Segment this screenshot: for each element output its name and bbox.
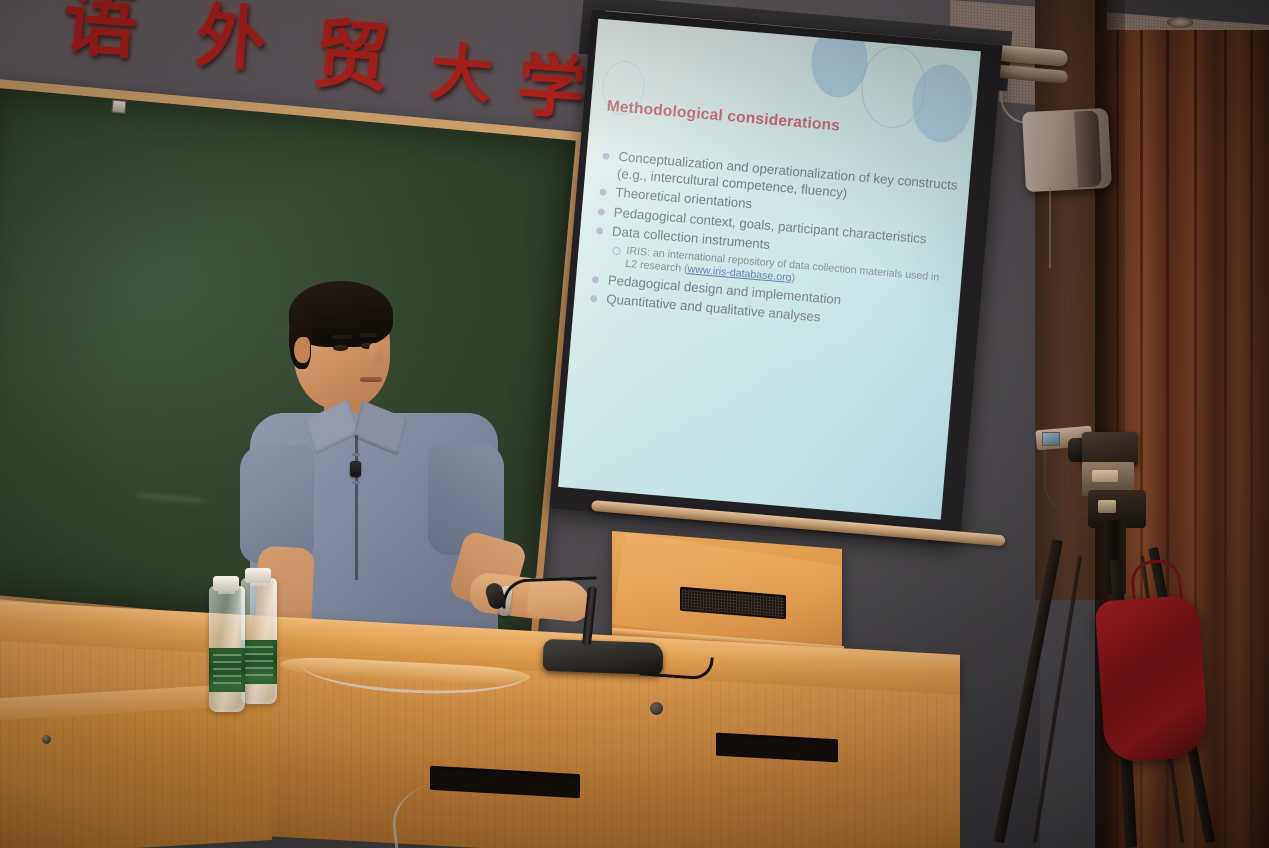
banner-char-2: 贸 [310, 16, 392, 98]
recessed-downlight-icon [1167, 17, 1193, 28]
iris-text-after: ) [791, 272, 796, 284]
speaker-cable [1049, 188, 1051, 268]
bottle-label-front [209, 648, 245, 692]
projection-screen: Methodological considerations Conceptual… [549, 10, 1002, 543]
sleeve-left [240, 445, 314, 563]
camera-mount-highlight [1092, 470, 1118, 482]
slide-bullets: Conceptualization and operationalization… [587, 147, 960, 340]
desk-left-lock-icon [42, 735, 51, 744]
red-bag [1094, 595, 1209, 764]
bottle-label-back [241, 640, 277, 684]
mouth [360, 377, 382, 382]
banner-char-3: 大 [428, 41, 495, 108]
shirt-button-2 [352, 481, 360, 484]
wall-speaker-icon [1022, 108, 1112, 192]
banner-char-4: 学 [515, 51, 588, 124]
bottle-cap-back [245, 568, 271, 583]
desk-lock-icon [650, 702, 663, 715]
bottle-cap-front [213, 576, 239, 591]
nose [369, 343, 383, 365]
shirt-button-1 [352, 453, 360, 456]
tripod-knob [1098, 500, 1116, 513]
slide-title: Methodological considerations [606, 98, 841, 136]
banner-char-1: 外 [194, 1, 269, 76]
board-clip [111, 100, 126, 114]
eye-left [333, 345, 348, 351]
presentation-slide: Methodological considerations Conceptual… [558, 19, 981, 520]
banner-char-0: 语 [60, 0, 139, 64]
shirt-placket [355, 435, 358, 580]
video-camera [1082, 432, 1138, 466]
eyebrow-left [332, 335, 352, 339]
eyebrow-right [360, 333, 377, 337]
ear [294, 337, 310, 363]
lecture-hall-photo: 语 外 贸 大 学 Methodological considerations … [0, 0, 1269, 848]
lapel-microphone-icon [350, 461, 361, 477]
microphone-gooseneck [502, 576, 598, 608]
desk-left-grain [0, 704, 272, 848]
camera-lcd-screen [1042, 432, 1060, 446]
desk-left-front [0, 704, 272, 848]
